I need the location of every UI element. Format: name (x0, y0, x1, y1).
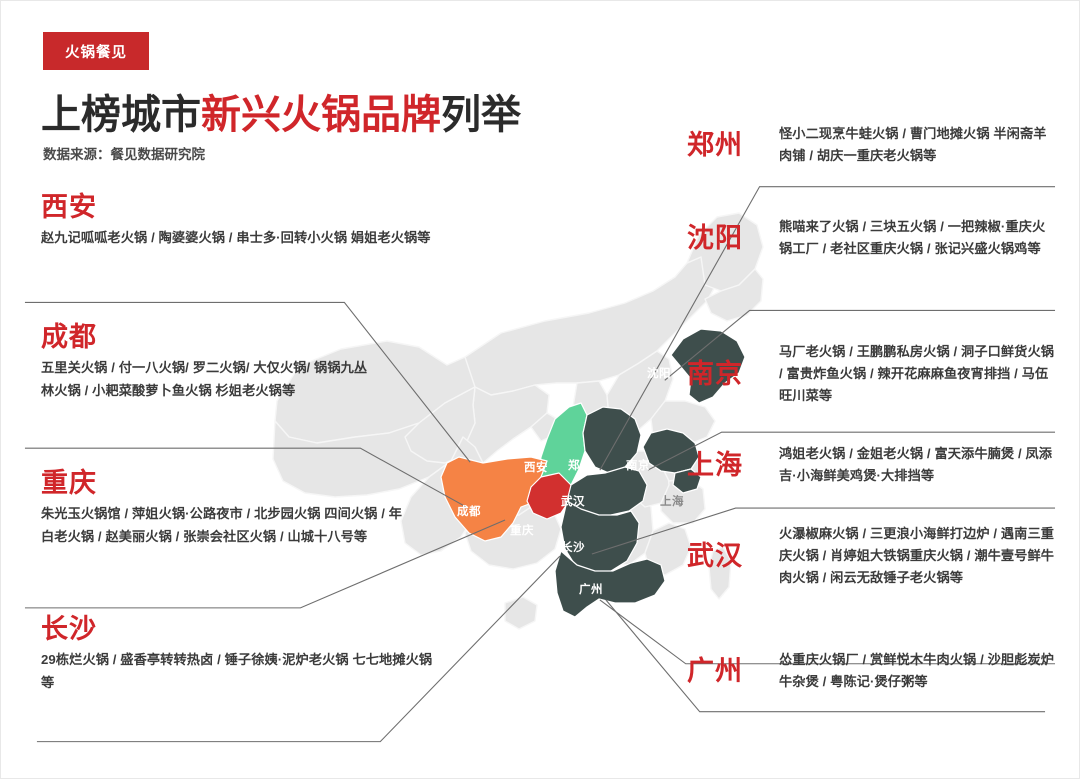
city-card-guangzhou: 广州 怂重庆火锅厂 / 赏鲜悦木牛肉火锅 / 沙胆彪炭炉牛杂煲 / 粤陈记·煲仔… (687, 649, 1057, 693)
city-brands-nanjing: 马厂老火锅 / 王鹏鹏私房火锅 / 洞子口鲜货火锅 / 富贵炸鱼火锅 / 辣开花… (779, 341, 1057, 407)
map-label-重庆: 重庆 (510, 522, 534, 538)
city-card-chongqing: 重庆 朱光玉火锅馆 / 萍姐火锅·公路夜市 / 北步园火锅 四间火锅 / 年白老… (41, 469, 411, 549)
title-suffix: 列举 (441, 93, 521, 137)
map-label-广州: 广州 (579, 581, 603, 597)
city-card-changsha: 长沙 29栋烂火锅 / 盛香亭转转热卤 / 锤子徐姨·泥炉老火锅 七七地摊火锅等 (41, 615, 441, 695)
data-source-subtitle: 数据来源：餐见数据研究院 (43, 143, 205, 163)
title-highlight: 新兴火锅品牌 (201, 93, 441, 137)
map-label-郑州: 郑州 (568, 457, 592, 473)
city-brands-zhengzhou: 怪小二现烹牛蛙火锅 / 曹门地摊火锅 半闲斋羊肉铺 / 胡庆一重庆老火锅等 (779, 123, 1057, 167)
city-brands-shanghai: 鸿姐老火锅 / 金姐老火锅 / 富天添牛腩煲 / 凤添吉·小海鲜美鸡煲·大排挡等 (779, 443, 1057, 487)
map-label-沈阳: 沈阳 (647, 365, 671, 381)
city-brands-xian: 赵九记呱呱老火锅 / 陶婆婆火锅 / 串士多·回转小火锅 娟姐老火锅等 (41, 227, 441, 250)
infographic-page: 火锅餐见 上榜城市新兴火锅品牌列举 数据来源：餐见数据研究院 西安 赵九记呱呱老… (0, 0, 1080, 779)
city-name-zhengzhou: 郑州 (687, 131, 779, 159)
city-name-shanghai: 上海 (687, 451, 779, 479)
city-card-chengdu: 成都 五里关火锅 / 付一八火锅/ 罗二火锅/ 大仅火锅/ 锅锅九丛林火锅 / … (41, 323, 371, 403)
city-name-wuhan: 武汉 (687, 542, 779, 570)
city-brands-changsha: 29栋烂火锅 / 盛香亭转转热卤 / 锤子徐姨·泥炉老火锅 七七地摊火锅等 (41, 649, 441, 694)
map-label-成都: 成都 (457, 503, 481, 519)
title-prefix: 上榜城市 (41, 93, 201, 137)
city-card-nanjing: 南京 马厂老火锅 / 王鹏鹏私房火锅 / 洞子口鲜货火锅 / 富贵炸鱼火锅 / … (687, 341, 1057, 407)
city-name-changsha: 长沙 (41, 615, 441, 643)
brand-logo-text: 火锅餐见 (65, 41, 127, 62)
city-name-chongqing: 重庆 (41, 469, 411, 497)
city-brands-chongqing: 朱光玉火锅馆 / 萍姐火锅·公路夜市 / 北步园火锅 四间火锅 / 年白老火锅 … (41, 503, 411, 548)
city-brands-wuhan: 火瀑椒麻火锅 / 三更浪小海鲜打边炉 / 遇南三重庆火锅 / 肖婷姐大铁锅重庆火… (779, 523, 1057, 589)
city-brands-guangzhou: 怂重庆火锅厂 / 赏鲜悦木牛肉火锅 / 沙胆彪炭炉牛杂煲 / 粤陈记·煲仔粥等 (779, 649, 1057, 693)
map-label-西安: 西安 (524, 459, 548, 475)
city-brands-shenyang: 熊喵来了火锅 / 三块五火锅 / 一把辣椒·重庆火锅工厂 / 老社区重庆火锅 /… (779, 216, 1057, 260)
city-name-guangzhou: 广州 (687, 657, 779, 685)
brand-logo-badge: 火锅餐见 (43, 32, 149, 70)
city-card-wuhan: 武汉 火瀑椒麻火锅 / 三更浪小海鲜打边炉 / 遇南三重庆火锅 / 肖婷姐大铁锅… (687, 523, 1057, 589)
city-card-shanghai: 上海 鸿姐老火锅 / 金姐老火锅 / 富天添牛腩煲 / 凤添吉·小海鲜美鸡煲·大… (687, 443, 1057, 487)
city-name-xian: 西安 (41, 193, 441, 221)
city-card-xian: 西安 赵九记呱呱老火锅 / 陶婆婆火锅 / 串士多·回转小火锅 娟姐老火锅等 (41, 193, 441, 250)
city-brands-chengdu: 五里关火锅 / 付一八火锅/ 罗二火锅/ 大仅火锅/ 锅锅九丛林火锅 / 小耙菜… (41, 357, 371, 402)
city-name-chengdu: 成都 (41, 323, 371, 351)
city-name-nanjing: 南京 (687, 360, 779, 388)
city-card-zhengzhou: 郑州 怪小二现烹牛蛙火锅 / 曹门地摊火锅 半闲斋羊肉铺 / 胡庆一重庆老火锅等 (687, 123, 1057, 167)
city-card-shenyang: 沈阳 熊喵来了火锅 / 三块五火锅 / 一把辣椒·重庆火锅工厂 / 老社区重庆火… (687, 216, 1057, 260)
map-label-南京: 南京 (626, 457, 650, 473)
page-title: 上榜城市新兴火锅品牌列举 (41, 82, 521, 140)
map-label-长沙: 长沙 (561, 539, 585, 555)
map-label-武汉: 武汉 (561, 493, 585, 509)
city-name-shenyang: 沈阳 (687, 224, 779, 252)
map-label-上海: 上海 (660, 493, 684, 509)
